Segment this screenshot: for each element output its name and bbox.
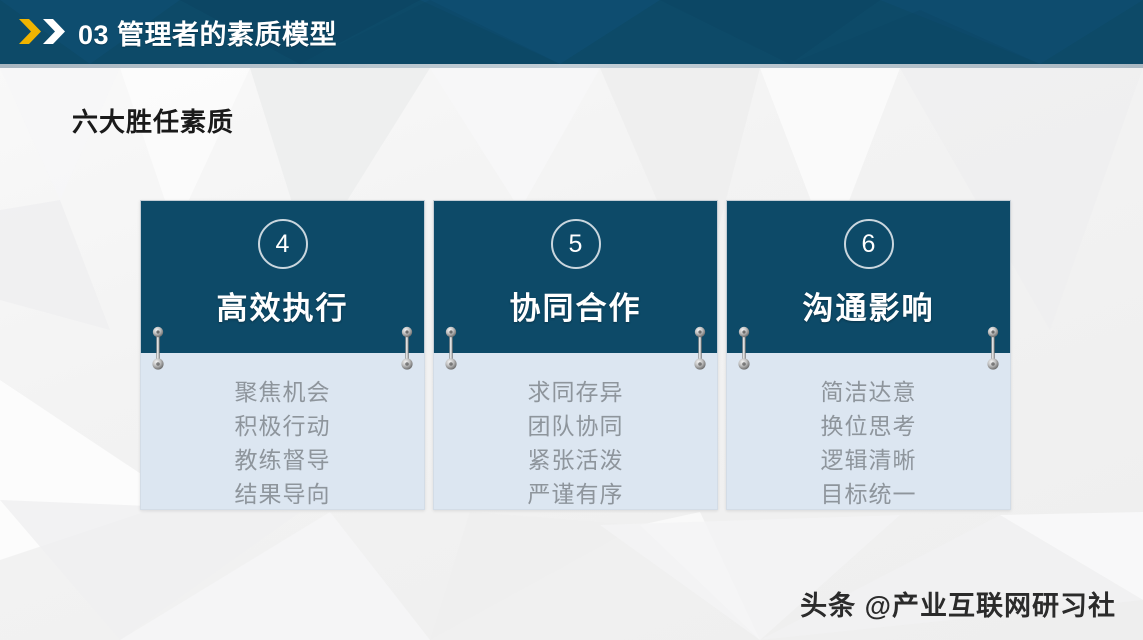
- card-body-item: 紧张活泼: [528, 443, 624, 477]
- header-underline-divider: [0, 64, 1143, 68]
- competency-card[interactable]: 5 协同合作 求同存异 团队协同: [433, 200, 718, 510]
- page-title: 03 管理者的素质模型: [78, 13, 337, 52]
- metal-pin-icon: [151, 326, 165, 370]
- card-body-item: 聚焦机会: [235, 375, 331, 409]
- slide-canvas: 03 管理者的素质模型 六大胜任素质 4 高: [0, 0, 1143, 640]
- section-heading: 六大胜任素质: [72, 102, 234, 139]
- card-body-item: 求同存异: [528, 375, 624, 409]
- card-header: 5 协同合作: [433, 200, 718, 353]
- metal-pin-icon: [400, 326, 414, 370]
- metal-pin-icon: [986, 326, 1000, 370]
- competency-card[interactable]: 6 沟通影响 简洁达意 换位思考: [726, 200, 1011, 510]
- slide-header-bar: 03 管理者的素质模型: [0, 0, 1143, 64]
- card-body: 简洁达意 换位思考 逻辑清晰 目标统一: [726, 353, 1011, 510]
- competency-card-group: 4 高效执行 聚焦机会 积极行动: [140, 200, 1011, 510]
- card-body-item: 简洁达意: [821, 375, 917, 409]
- card-body-item: 目标统一: [821, 477, 917, 511]
- watermark-text: 头条 @产业互联网研习社: [800, 584, 1116, 623]
- card-header: 6 沟通影响: [726, 200, 1011, 353]
- card-number-badge: 6: [844, 219, 894, 269]
- competency-card[interactable]: 4 高效执行 聚焦机会 积极行动: [140, 200, 425, 510]
- card-body-item: 团队协同: [528, 409, 624, 443]
- card-body-item: 积极行动: [235, 409, 331, 443]
- card-body-item: 结果导向: [235, 477, 331, 511]
- metal-pin-icon: [444, 326, 458, 370]
- card-title: 协同合作: [510, 283, 642, 328]
- card-body-item: 严谨有序: [528, 477, 624, 511]
- double-chevron-right-white-icon: [42, 18, 69, 45]
- card-number-badge: 4: [258, 219, 308, 269]
- card-body-item: 教练督导: [235, 443, 331, 477]
- card-body: 求同存异 团队协同 紧张活泼 严谨有序: [433, 353, 718, 510]
- card-body: 聚焦机会 积极行动 教练督导 结果导向: [140, 353, 425, 510]
- card-header: 4 高效执行: [140, 200, 425, 353]
- card-number-badge: 5: [551, 219, 601, 269]
- card-body-item: 逻辑清晰: [821, 443, 917, 477]
- metal-pin-icon: [737, 326, 751, 370]
- header-chevron-group: [18, 18, 69, 45]
- card-title: 沟通影响: [803, 283, 935, 328]
- metal-pin-icon: [693, 326, 707, 370]
- card-body-item: 换位思考: [821, 409, 917, 443]
- card-title: 高效执行: [217, 283, 349, 328]
